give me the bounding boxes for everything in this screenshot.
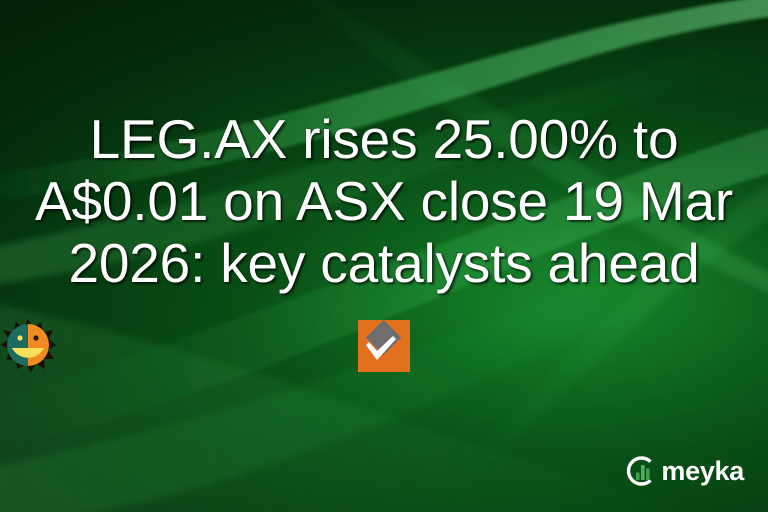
emoji-row <box>0 316 768 374</box>
white-check-shape <box>364 336 398 362</box>
headline-text: LEG.AX rises 25.00% to A$0.01 on ASX clo… <box>0 108 768 294</box>
meyka-chart-ring-icon <box>624 454 658 488</box>
spiky-sun-face-emoji <box>0 318 56 372</box>
social-card: LEG.AX rises 25.00% to A$0.01 on ASX clo… <box>0 0 768 512</box>
orange-square-check-emoji <box>356 316 412 374</box>
meyka-logo-text: meyka <box>661 458 744 485</box>
meyka-logo: meyka <box>624 454 744 488</box>
